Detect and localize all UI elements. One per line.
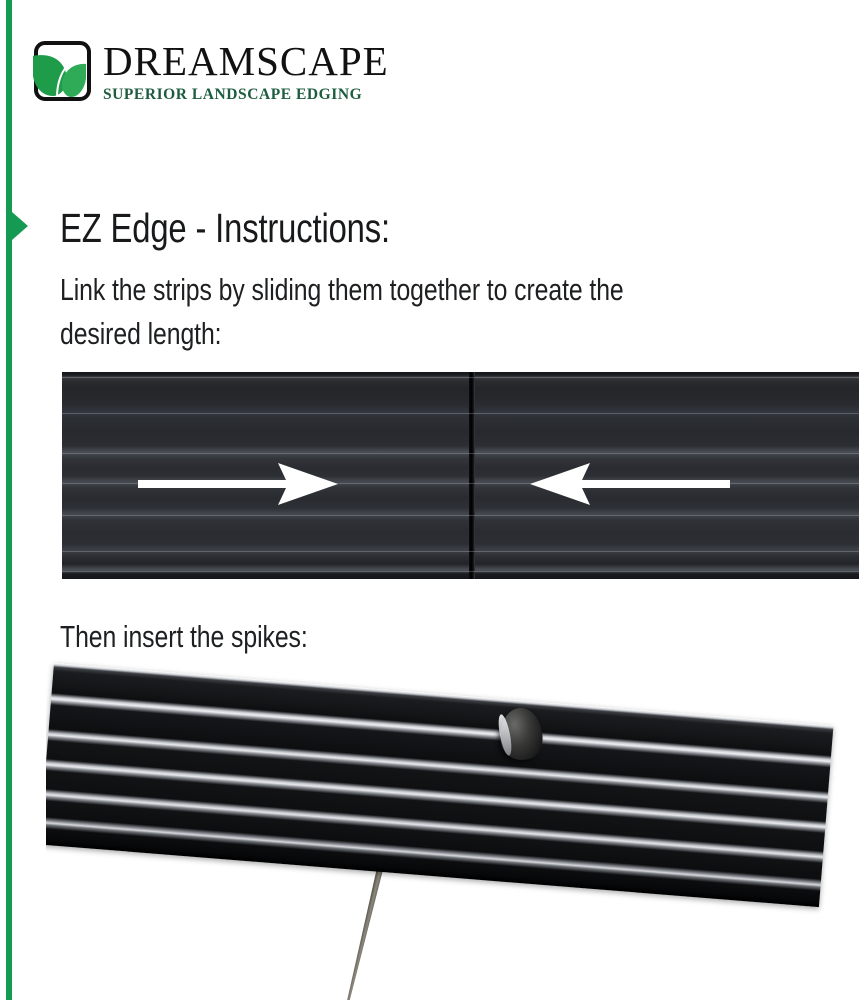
brand-logo: DREAMSCAPE SUPERIOR LANDSCAPE EDGING — [31, 38, 411, 112]
strip-highlight-line — [62, 453, 859, 454]
strip-highlight-line — [62, 377, 859, 378]
green-triangle-pointer-icon — [12, 212, 28, 240]
strip-highlight-line — [62, 571, 859, 572]
page-title: EZ Edge - Instructions: — [60, 203, 390, 253]
arrow-right-icon — [138, 463, 338, 505]
spikes-caption: Then insert the spikes: — [60, 615, 308, 659]
strip-highlight-line — [62, 551, 859, 552]
strip-highlight-line — [62, 515, 859, 516]
intro-text-line-2: desired length: — [60, 312, 222, 356]
edging-strip-angled — [46, 663, 833, 907]
brand-wordmark: DREAMSCAPE SUPERIOR LANDSCAPE EDGING — [103, 38, 413, 104]
intro-text-line-1: Link the strips by sliding them together… — [60, 268, 624, 312]
brand-name: DREAMSCAPE — [103, 38, 413, 84]
strip-highlight-line — [62, 413, 859, 414]
arrow-left-icon — [530, 463, 730, 505]
two-leaves-in-rounded-square-icon — [31, 40, 93, 104]
spike-insertion-photo — [46, 655, 846, 1000]
strip-joint-seam — [469, 372, 475, 579]
brand-tagline: SUPERIOR LANDSCAPE EDGING — [103, 85, 413, 104]
green-accent-rail — [6, 0, 12, 1000]
